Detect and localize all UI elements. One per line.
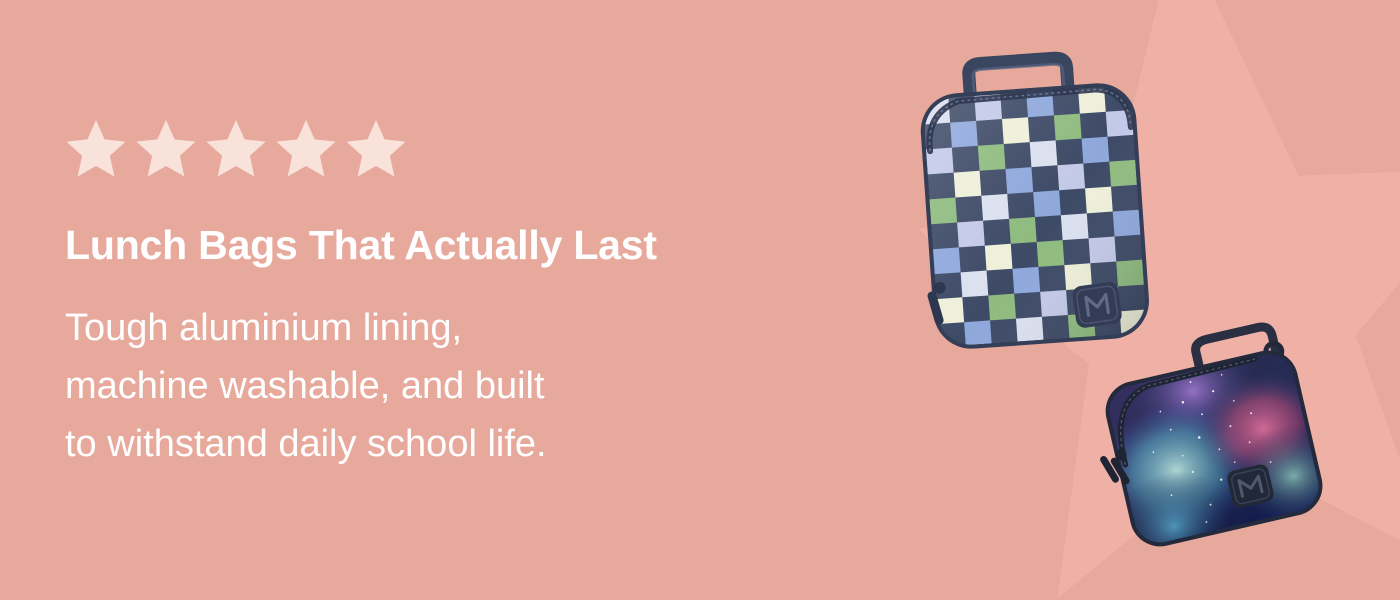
copy-block: Lunch Bags That Actually Last Tough alum…: [65, 118, 855, 473]
logo-patch-icon: [1071, 281, 1122, 329]
subcopy-line: Tough aluminium lining,: [65, 299, 855, 357]
checkered-lunch-bag[interactable]: [905, 48, 1165, 358]
star-icon: [135, 118, 197, 178]
subcopy: Tough aluminium lining, machine washable…: [65, 299, 855, 473]
star-icon: [65, 118, 127, 178]
star-icon: [275, 118, 337, 178]
galaxy-lunch-bag[interactable]: [1098, 334, 1353, 569]
subcopy-line: to withstand daily school life.: [65, 415, 855, 473]
promo-banner: Lunch Bags That Actually Last Tough alum…: [0, 0, 1400, 600]
subcopy-line: machine washable, and built: [65, 357, 855, 415]
headline: Lunch Bags That Actually Last: [65, 224, 855, 267]
rating-stars: [65, 118, 855, 178]
star-icon: [345, 118, 407, 178]
star-icon: [205, 118, 267, 178]
